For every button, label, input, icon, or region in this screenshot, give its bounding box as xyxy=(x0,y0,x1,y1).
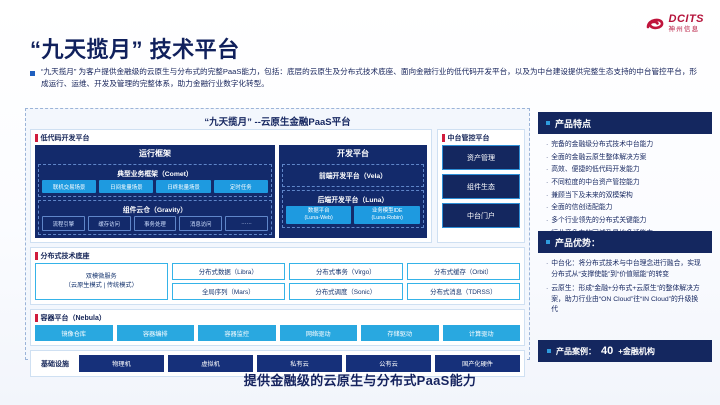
foundation-panel: 分布式技术底座 双模微服务 （云原生模式 | 传统模式） 分布式数据（Libra… xyxy=(30,247,525,305)
container-item[interactable]: 容器监控 xyxy=(198,325,276,341)
foundation-tile[interactable]: 分布式调度（Sonic） xyxy=(289,283,403,300)
frontend-group: 前端开发平台（Vela） xyxy=(282,164,424,187)
foundation-tile[interactable]: 分布式缓存（Orbit） xyxy=(407,263,521,280)
dot-bullet-icon: · xyxy=(546,216,548,226)
product-case-unit: +金融机构 xyxy=(618,346,655,357)
dev-platform-box: 开发平台 前端开发平台（Vela） 后端开发平台（Luna） 数据平台 (Lun… xyxy=(279,145,427,238)
square-bullet-icon xyxy=(546,240,550,244)
advantage-item: ·云原生：形成“金融+分布式+云原生”的整体解决方案，助力行业由“ON Clou… xyxy=(546,284,704,316)
company-logo: DCITS 神州信息 xyxy=(645,14,705,34)
control-item-portal[interactable]: 中台门户 xyxy=(442,203,520,228)
dot-bullet-icon: · xyxy=(546,153,548,163)
feature-item-label: 兼顾当下及未来的双模架构 xyxy=(551,191,633,201)
product-advantages-panel: 产品优势： ·中台化：将分布式技术与中台理念进行融合，实现分布式从“支撑使能”到… xyxy=(538,231,712,324)
container-item[interactable]: 容器编排 xyxy=(117,325,195,341)
container-item[interactable]: 网络驱动 xyxy=(280,325,358,341)
product-case-label: 产品案例： xyxy=(556,346,596,357)
dual-mode-line1: 双模微服务 xyxy=(36,273,167,281)
product-case-banner: 产品案例： 40 +金融机构 xyxy=(538,340,712,362)
dual-mode-microservice-tile[interactable]: 双模微服务 （云原生模式 | 传统模式） xyxy=(35,263,168,300)
comet-chip[interactable]: 日间批量场景 xyxy=(99,180,153,193)
foundation-column: 分布式缓存（Orbit） 分布式消息（TDRSS） xyxy=(407,263,521,300)
foundation-tile[interactable]: 分布式消息（TDRSS） xyxy=(407,283,521,300)
feature-item-label: 全面的金融云原生整体解决方案 xyxy=(551,153,646,163)
backend-chip[interactable]: 数据平台 (Luna-Web) xyxy=(286,206,352,224)
container-platform-panel: 容器平台（Nebula） 镜像仓库 容器编排 容器监控 网络驱动 存储驱动 计算… xyxy=(30,309,525,346)
gravity-title: 组件云仓（Gravity） xyxy=(42,203,268,216)
foundation-tile[interactable]: 分布式数据（Libra） xyxy=(172,263,286,280)
backend-title: 后端开发平台（Luna） xyxy=(286,193,420,206)
dot-bullet-icon: · xyxy=(546,284,548,316)
logo-wordmark: DCITS xyxy=(669,14,705,25)
section-accent-bar-icon xyxy=(35,252,38,260)
advantage-item-label: 中台化：将分布式技术与中台理念进行融合，实现分布式从“支撑使能”到“价值赋能”的… xyxy=(551,259,704,280)
gravity-chip[interactable]: 缓存访问 xyxy=(88,216,131,231)
feature-item-label: 完备的金融级分布式技术中台能力 xyxy=(551,140,653,150)
slide-root: DCITS 神州信息 “九天揽月” 技术平台 “九天揽月” 为客户提供金融级的云… xyxy=(0,0,720,405)
intro-text: “九天揽月” 为客户提供金融级的云原生与分布式的完整PaaS能力，包括：底层的云… xyxy=(41,66,702,90)
product-advantages-title: 产品优势： xyxy=(555,236,600,249)
container-item[interactable]: 计算驱动 xyxy=(443,325,521,341)
foundation-section-header: 分布式技术底座 xyxy=(31,248,524,263)
square-bullet-icon xyxy=(546,121,550,125)
section-accent-bar-icon xyxy=(35,134,38,142)
dcits-swirl-icon xyxy=(645,14,665,34)
dot-bullet-icon: · xyxy=(546,191,548,201)
lowcode-section-header: 低代码开发平台 xyxy=(31,130,431,145)
control-item-asset-management[interactable]: 资产管理 xyxy=(442,145,520,170)
dot-bullet-icon: · xyxy=(546,140,548,150)
dot-bullet-icon: · xyxy=(546,165,548,175)
backend-group: 后端开发平台（Luna） 数据平台 (Luna-Web) 业务模型IDE (Lu… xyxy=(282,190,424,228)
feature-item: ·多个行业领先的分布式关键能力 xyxy=(546,216,704,226)
gravity-chip[interactable]: 流程引擎 xyxy=(42,216,85,231)
control-section-label: 中台管控平台 xyxy=(448,133,490,143)
control-section-header: 中台管控平台 xyxy=(438,130,524,145)
feature-item: ·兼顾当下及未来的双模架构 xyxy=(546,191,704,201)
feature-item: ·完备的金融级分布式技术中台能力 xyxy=(546,140,704,150)
logo-subtext: 神州信息 xyxy=(669,27,705,34)
foundation-tile[interactable]: 分布式事务（Virgo） xyxy=(289,263,403,280)
runtime-framework-title: 运行框架 xyxy=(35,145,275,162)
square-bullet-icon xyxy=(30,71,35,76)
container-item[interactable]: 镜像仓库 xyxy=(35,325,113,341)
foundation-column: 分布式数据（Libra） 全局序列（Mars） xyxy=(172,263,286,300)
dual-mode-line2: （云原生模式 | 传统模式） xyxy=(36,282,167,290)
advantage-item-label: 云原生：形成“金融+分布式+云原生”的整体解决方案，助力行业由“ON Cloud… xyxy=(551,284,704,316)
feature-item: ·不同粒度的中台资产管控能力 xyxy=(546,178,704,188)
comet-title: 典型业务框架（Comet） xyxy=(42,167,268,180)
gravity-chip[interactable]: 消息访问 xyxy=(179,216,222,231)
control-item-component-ecosystem[interactable]: 组件生态 xyxy=(442,174,520,199)
product-features-title: 产品特点 xyxy=(555,117,591,130)
intro-paragraph: “九天揽月” 为客户提供金融级的云原生与分布式的完整PaaS能力，包括：底层的云… xyxy=(30,66,702,90)
backend-chip-line2: (Luna-Web) xyxy=(304,215,332,221)
control-platform-panel: 中台管控平台 资产管理 组件生态 中台门户 xyxy=(437,129,525,243)
architecture-diagram: “九天揽月” --云原生金融PaaS平台 低代码开发平台 运行框架 xyxy=(25,108,530,360)
dev-platform-title: 开发平台 xyxy=(279,145,427,162)
dot-bullet-icon: · xyxy=(546,259,548,280)
slide-tagline: 提供金融级的云原生与分布式PaaS能力 xyxy=(0,370,720,389)
section-accent-bar-icon xyxy=(442,134,445,142)
feature-item-label: 多个行业领先的分布式关键能力 xyxy=(551,216,646,226)
backend-chip-line2: (Luna-Robin) xyxy=(371,215,402,221)
product-features-header: 产品特点 xyxy=(538,112,712,134)
lowcode-section-label: 低代码开发平台 xyxy=(41,133,90,143)
dot-bullet-icon: · xyxy=(546,178,548,188)
frontend-title: 前端开发平台（Vela） xyxy=(286,167,420,183)
comet-chip[interactable]: 定时任务 xyxy=(214,180,268,193)
gravity-chip[interactable]: 事务处理 xyxy=(134,216,177,231)
foundation-column: 分布式事务（Virgo） 分布式调度（Sonic） xyxy=(289,263,403,300)
gravity-group: 组件云仓（Gravity） 流程引擎 缓存访问 事务处理 消息访问 …… xyxy=(38,200,272,235)
comet-chip[interactable]: 联机交易场景 xyxy=(42,180,96,193)
foundation-section-label: 分布式技术底座 xyxy=(41,251,90,261)
backend-chip[interactable]: 业务模型IDE (Luna-Robin) xyxy=(354,206,420,224)
container-item[interactable]: 存储驱动 xyxy=(361,325,439,341)
feature-item: ·全面的信创适配能力 xyxy=(546,203,704,213)
comet-group: 典型业务框架（Comet） 联机交易场景 日间批量场景 日终批量场景 定时任务 xyxy=(38,164,272,197)
product-case-number: 40 xyxy=(601,345,613,357)
runtime-framework-box: 运行框架 典型业务框架（Comet） 联机交易场景 日间批量场景 日终批量场景 … xyxy=(35,145,275,238)
feature-item: ·全面的金融云原生整体解决方案 xyxy=(546,153,704,163)
foundation-tile[interactable]: 全局序列（Mars） xyxy=(172,283,286,300)
feature-item-label: 不同粒度的中台资产管控能力 xyxy=(551,178,639,188)
product-features-panel: 产品特点 ·完备的金融级分布式技术中台能力 ·全面的金融云原生整体解决方案 ·高… xyxy=(538,112,712,246)
backend-chip-line1: 业务模型IDE xyxy=(372,208,403,214)
page-title: “九天揽月” 技术平台 xyxy=(30,32,240,64)
feature-item-label: 高效、便捷的低代码开发能力 xyxy=(551,165,639,175)
product-advantages-header: 产品优势： xyxy=(538,231,712,253)
feature-item: ·高效、便捷的低代码开发能力 xyxy=(546,165,704,175)
dot-bullet-icon: · xyxy=(546,203,548,213)
feature-item-label: 全面的信创适配能力 xyxy=(551,203,612,213)
product-features-list: ·完备的金融级分布式技术中台能力 ·全面的金融云原生整体解决方案 ·高效、便捷的… xyxy=(538,134,712,246)
lowcode-platform-panel: 低代码开发平台 运行框架 典型业务框架（Comet） 联机交易场景 日间批量场景 xyxy=(30,129,432,243)
container-section-label: 容器平台（Nebula） xyxy=(41,313,106,323)
section-accent-bar-icon xyxy=(35,314,38,322)
gravity-chip[interactable]: …… xyxy=(225,216,268,231)
square-bullet-icon xyxy=(547,349,551,353)
backend-chip-line1: 数据平台 xyxy=(308,208,330,214)
container-section-header: 容器平台（Nebula） xyxy=(31,310,524,325)
advantage-item: ·中台化：将分布式技术与中台理念进行融合，实现分布式从“支撑使能”到“价值赋能”… xyxy=(546,259,704,280)
comet-chip[interactable]: 日终批量场景 xyxy=(156,180,210,193)
infrastructure-label: 基础设施 xyxy=(35,359,75,369)
product-advantages-list: ·中台化：将分布式技术与中台理念进行融合，实现分布式从“支撑使能”到“价值赋能”… xyxy=(538,253,712,324)
